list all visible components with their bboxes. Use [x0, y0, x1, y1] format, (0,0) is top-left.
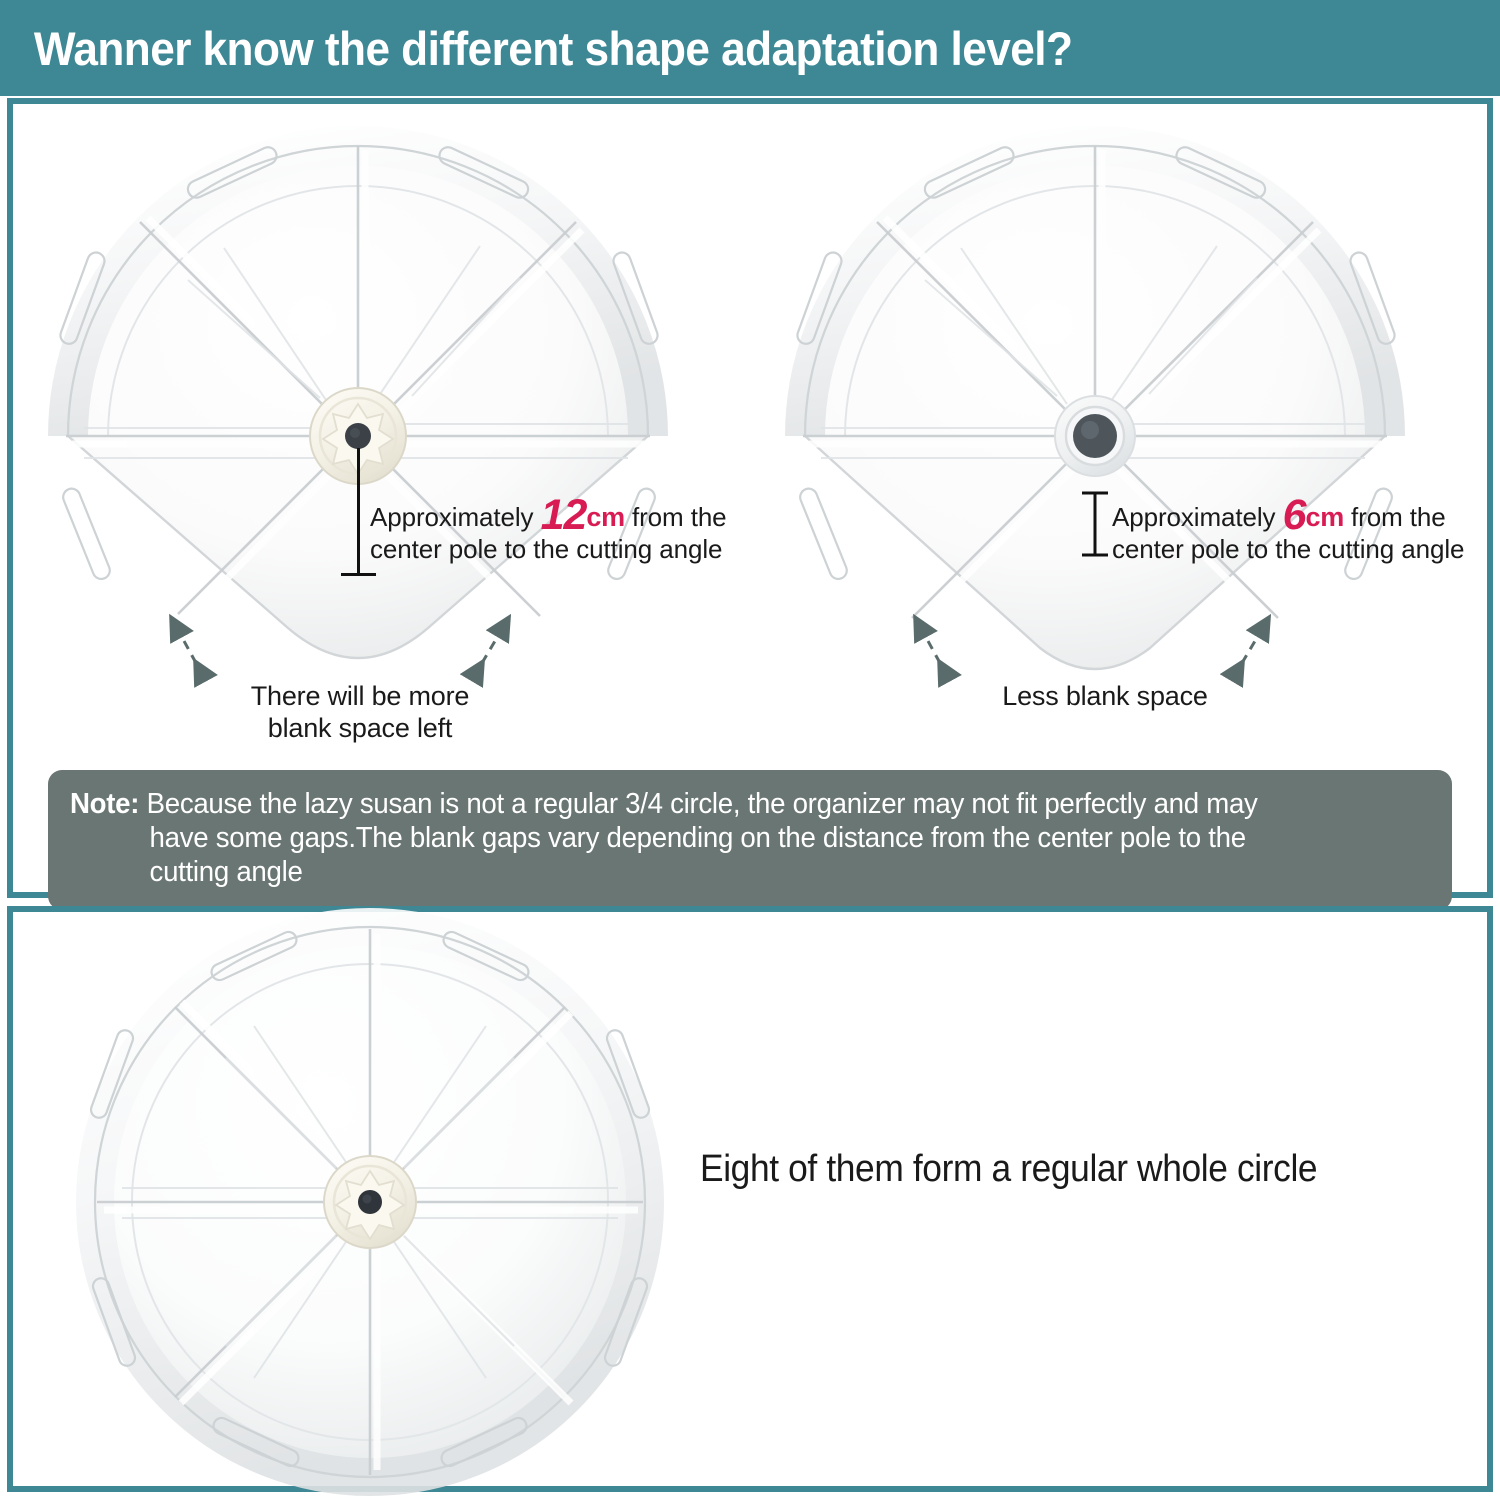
measure-unit-left: cm [586, 502, 624, 532]
measure-value-right: 6 [1283, 491, 1306, 539]
header-banner: Wanner know the different shape adaptati… [0, 0, 1500, 96]
measure-prefix-right: Approximately [1112, 502, 1275, 532]
note-line-2: have some gaps.The blank gaps vary depen… [70, 821, 1389, 855]
measure-suffix1-right: from the [1351, 502, 1446, 532]
measure-unit-right: cm [1305, 502, 1343, 532]
measure-annotation-left: Approximately 12cm from the center pole … [370, 498, 727, 564]
measure-line-left [357, 448, 360, 576]
note-line-1: Note: Because the lazy susan is not a re… [70, 787, 1389, 821]
measure-ibeam-right [1078, 490, 1112, 558]
measure-suffix1-left: from the [632, 502, 727, 532]
measure-tick-left [341, 573, 376, 576]
note-line-3: cutting angle [70, 855, 1389, 889]
infographic-page: Wanner know the different shape adaptati… [0, 0, 1500, 1498]
center-hub-full [324, 1156, 416, 1248]
page-title: Wanner know the different shape adaptati… [0, 21, 1072, 76]
measure-value-left: 12 [541, 491, 587, 539]
center-hub-right [1055, 396, 1135, 476]
gap-caption-left-line2: blank space left [235, 712, 485, 744]
measure-suffix2-left: center pole to the cutting angle [370, 534, 722, 564]
gap-caption-right-line1: Less blank space [1000, 680, 1210, 712]
gap-caption-right: Less blank space [1000, 680, 1210, 712]
note-body-1: Because the lazy susan is not a regular … [147, 788, 1258, 820]
measure-annotation-right: Approximately 6cm from the center pole t… [1112, 498, 1464, 564]
measure-suffix2-right: center pole to the cutting angle [1112, 534, 1464, 564]
gap-caption-left: There will be more blank space left [235, 680, 485, 745]
note-label: Note: [70, 788, 139, 820]
product-image-full-circle [82, 918, 662, 1488]
gap-caption-left-line1: There will be more [235, 680, 485, 712]
bottom-caption: Eight of them form a regular whole circl… [700, 1148, 1388, 1191]
measure-prefix-left: Approximately [370, 502, 533, 532]
note-box: Note: Because the lazy susan is not a re… [48, 770, 1452, 910]
